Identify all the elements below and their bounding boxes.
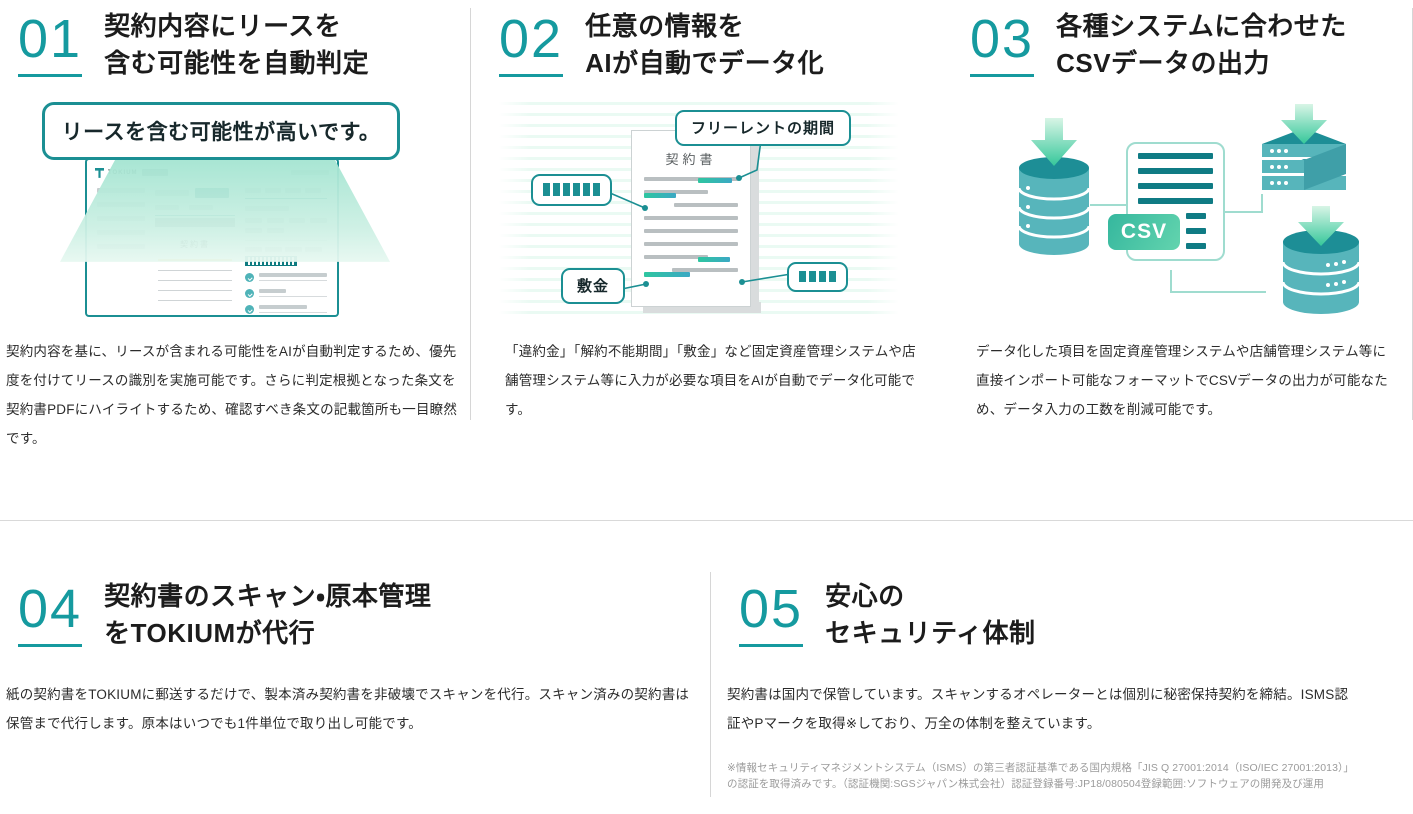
feature-number-03: 03	[970, 12, 1034, 77]
feature-title-04-line1: 契約書のスキャン・原本管理	[104, 578, 431, 615]
csv-badge-label: CSV	[1121, 220, 1167, 244]
lease-detection-callout-text: リースを含む可能性が高いです。	[62, 116, 381, 146]
feature-title-02-line1: 任意の情報を	[585, 8, 824, 45]
feature-card-05: 05 安心の セキュリティ体制 契約書は国内で保管しています。スキャンするオペレ…	[711, 552, 1413, 814]
checklist-text	[259, 305, 327, 313]
csv-doc-line	[1186, 213, 1206, 219]
feature-body-03: データ化した項目を固定資産管理システムや店舗管理システム等に直接インポート可能な…	[976, 337, 1396, 424]
feature-card-01: 01 契約内容にリースを 含む可能性を自動判定 TOKIUM	[0, 0, 471, 455]
feature-title-05-line1: 安心の	[825, 578, 1035, 615]
contract-line	[158, 280, 232, 281]
illustration-contract-annotation: 契約書	[499, 102, 899, 317]
database-left-icon	[1019, 157, 1089, 255]
feature-number-01: 01	[18, 12, 82, 77]
feature-heading-02: 02 任意の情報を AIが自動でデータ化	[499, 6, 942, 82]
feature-heading-04: 04 契約書のスキャン・原本管理 をTOKIUMが代行	[18, 576, 711, 652]
tag-masked-left	[531, 174, 612, 206]
check-circle-icon	[245, 289, 254, 298]
checklist-item	[245, 273, 327, 282]
feature-title-02: 任意の情報を AIが自動でデータ化	[585, 8, 824, 82]
checklist-item	[245, 305, 327, 314]
feature-heading-03: 03 各種システムに合わせた CSVデータの出力	[970, 6, 1413, 82]
feature-card-04: 04 契約書のスキャン・原本管理 をTOKIUMが代行 紙の契約書をTOKIUM…	[0, 552, 711, 814]
feature-title-03-line1: 各種システムに合わせた	[1056, 8, 1347, 45]
feature-title-03: 各種システムに合わせた CSVデータの出力	[1056, 8, 1347, 82]
contract-line	[158, 270, 232, 271]
feature-number-04: 04	[18, 582, 82, 647]
feature-title-01-line1: 契約内容にリースを	[104, 8, 369, 45]
feature-title-05-line2: セキュリティ体制	[825, 615, 1035, 652]
bottom-feature-row: 04 契約書のスキャン・原本管理 をTOKIUMが代行 紙の契約書をTOKIUM…	[0, 552, 1413, 814]
csv-doc-line	[1138, 198, 1213, 204]
feature-body-04: 紙の契約書をTOKIUMに郵送するだけで、製本済み契約書を非破壊でスキャンを代行…	[6, 680, 696, 738]
lease-detection-callout: リースを含む可能性が高いです。	[42, 102, 400, 160]
masked-bars-icon	[799, 271, 836, 282]
check-circle-icon	[245, 273, 254, 282]
tag-free-rent-period-label: フリーレントの期間	[691, 117, 835, 138]
feature-title-01: 契約内容にリースを 含む可能性を自動判定	[104, 8, 369, 82]
checklist-text	[259, 289, 327, 297]
feature-title-04-line2: をTOKIUMが代行	[104, 615, 431, 652]
tokium-mark-icon	[95, 168, 104, 178]
tag-masked-right	[787, 262, 848, 292]
illustration-lease-detection: TOKIUM	[20, 102, 420, 317]
feature-number-05: 05	[739, 582, 803, 647]
check-circle-icon	[245, 305, 254, 314]
csv-doc-line	[1186, 243, 1206, 249]
security-certification-note: ※情報セキュリティマネジメントシステム（ISMS）の第三者認証基準である国内規格…	[727, 760, 1352, 793]
feature-number-02: 02	[499, 12, 563, 77]
feature-body-01: 契約内容を基に、リースが含まれる可能性をAIが自動判定するため、優先度を付けてリ…	[6, 337, 458, 453]
contract-line	[158, 290, 232, 291]
top-feature-row: 01 契約内容にリースを 含む可能性を自動判定 TOKIUM	[0, 0, 1413, 455]
csv-doc-line	[1186, 228, 1206, 234]
contract-line	[158, 300, 232, 301]
checklist-text	[259, 273, 327, 281]
csv-doc-line	[1138, 153, 1213, 159]
feature-title-05: 安心の セキュリティ体制	[825, 578, 1035, 652]
csv-doc-line	[1138, 183, 1213, 189]
feature-title-04: 契約書のスキャン・原本管理 をTOKIUMが代行	[104, 578, 431, 652]
feature-list-page: 01 契約内容にリースを 含む可能性を自動判定 TOKIUM	[0, 0, 1413, 814]
feature-title-03-line2: CSVデータの出力	[1056, 45, 1347, 82]
feature-title-02-line2: AIが自動でデータ化	[585, 45, 824, 82]
csv-doc-line	[1138, 168, 1213, 174]
feature-card-03: 03 各種システムに合わせた CSVデータの出力	[942, 0, 1413, 455]
tag-free-rent-period: フリーレントの期間	[675, 110, 851, 146]
tag-deposit: 敷金	[561, 268, 625, 304]
checklist-item	[245, 289, 327, 298]
tag-deposit-label: 敷金	[577, 275, 609, 296]
feature-body-05: 契約書は国内で保管しています。スキャンするオペレーターとは個別に秘密保持契約を締…	[727, 680, 1357, 738]
feature-card-02: 02 任意の情報を AIが自動でデータ化 契約書	[471, 0, 942, 455]
feature-title-01-line2: 含む可能性を自動判定	[104, 45, 369, 82]
feature-body-02: 「違約金」「解約不能期間」「敷金」など固定資産管理システムや店舗管理システム等に…	[505, 337, 925, 424]
csv-badge: CSV	[1108, 214, 1180, 250]
illustration-csv-export: CSV	[966, 102, 1376, 317]
feature-heading-01: 01 契約内容にリースを 含む可能性を自動判定	[18, 6, 471, 82]
masked-bars-icon	[543, 183, 600, 196]
section-divider	[0, 520, 1413, 521]
feature-heading-05: 05 安心の セキュリティ体制	[739, 576, 1413, 652]
